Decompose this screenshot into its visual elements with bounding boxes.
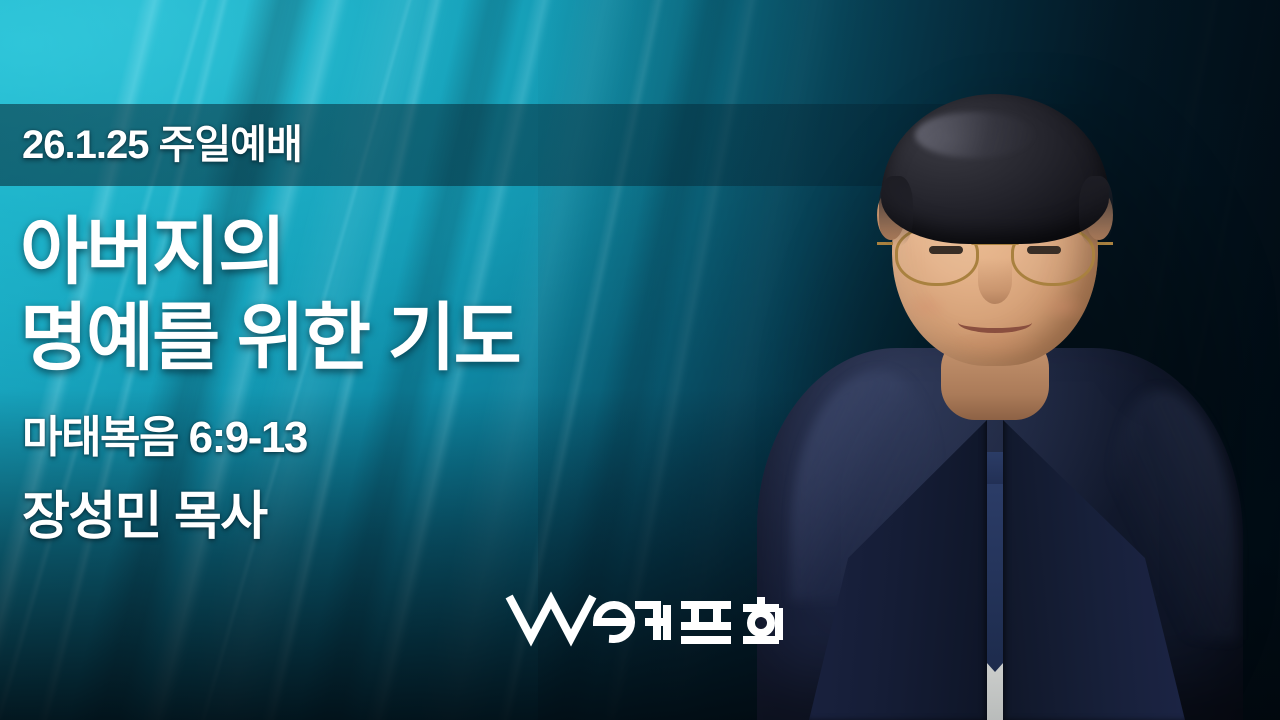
service-date-label: 26.1.25 주일예배 xyxy=(22,122,302,168)
hair-highlight xyxy=(915,112,1035,158)
sermon-title-line-1: 아버지의 xyxy=(20,212,284,292)
sideburn-right xyxy=(1079,176,1113,246)
sideburn-left xyxy=(879,176,913,246)
church-logo-mark xyxy=(505,588,795,650)
preacher-portrait xyxy=(735,60,1255,720)
chin xyxy=(947,332,1043,358)
scripture-reference: 마태복음 6:9-13 xyxy=(22,412,307,464)
preacher-name: 장성민 목사 xyxy=(22,486,267,548)
sermon-title-line-2: 명예를 위한 기도 xyxy=(20,298,520,378)
sermon-title-card: 26.1.25 주일예배 아버지의 명예를 위한 기도 마태복음 6:9-13 … xyxy=(0,0,1280,720)
mouth xyxy=(958,312,1032,333)
cheek-right xyxy=(1041,292,1087,322)
cheek-left xyxy=(903,292,949,322)
church-logo xyxy=(505,588,795,650)
